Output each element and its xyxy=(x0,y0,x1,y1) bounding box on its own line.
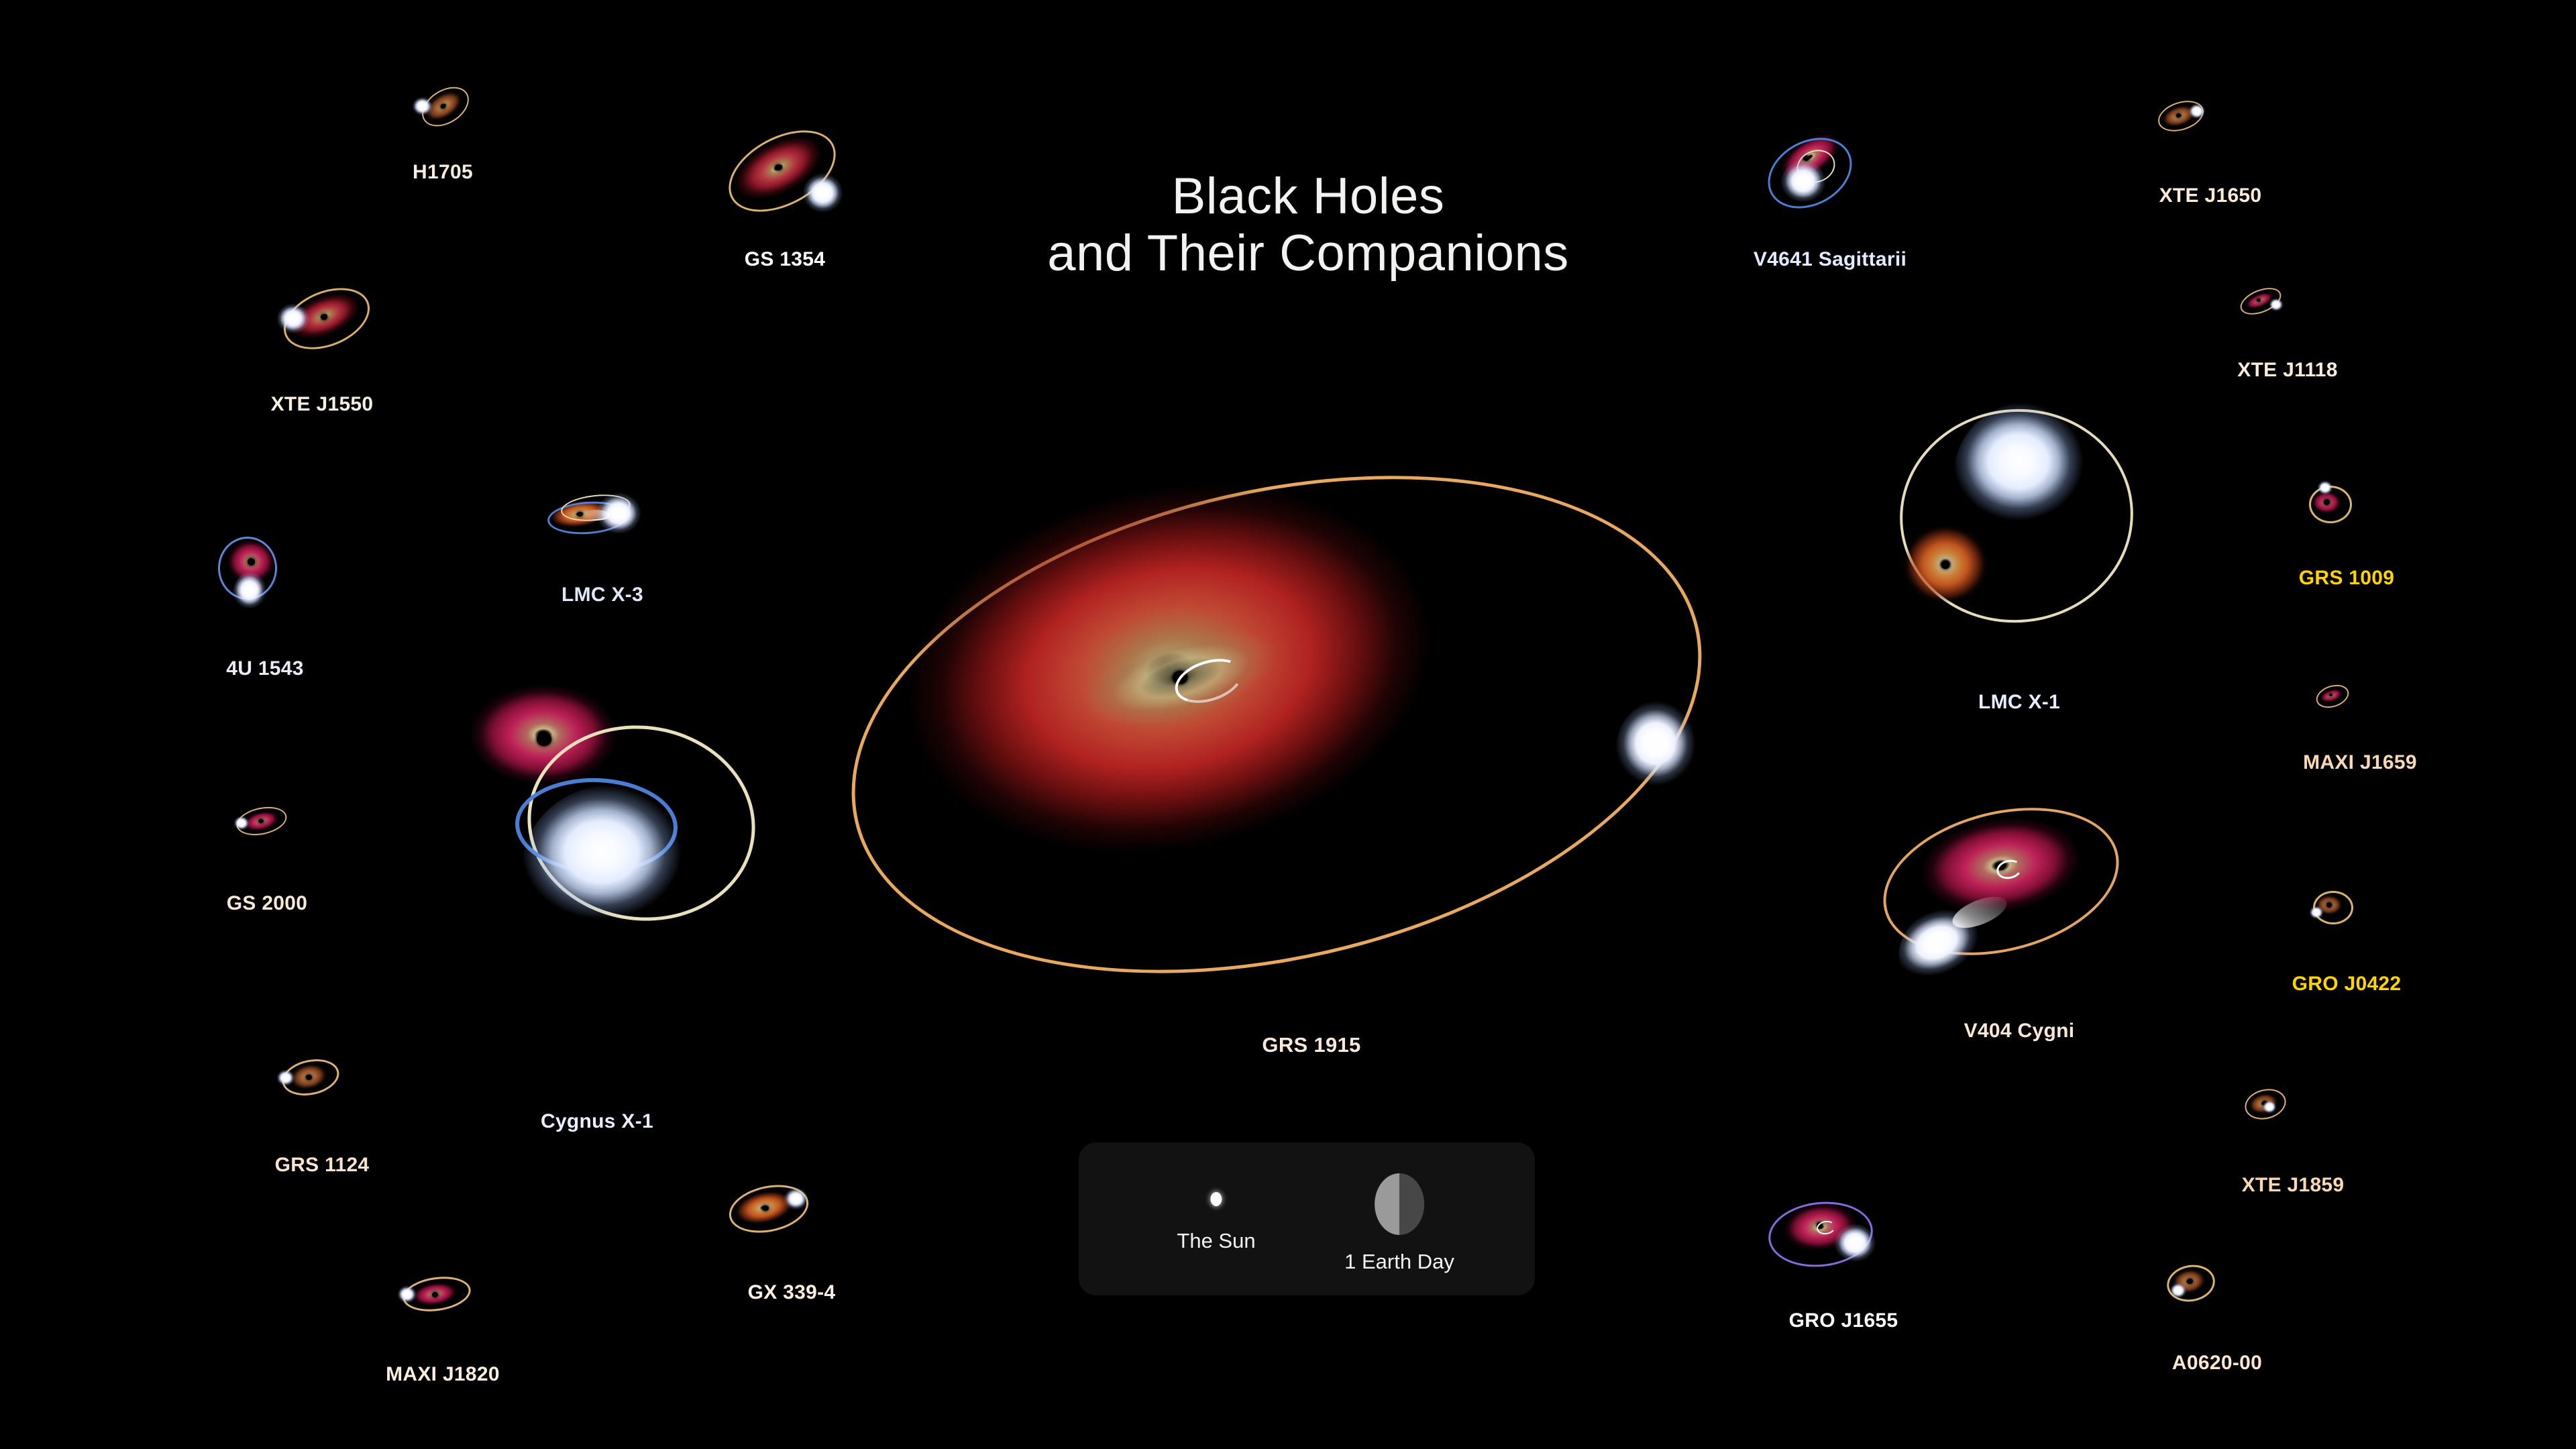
system-h1705[interactable]: H1705 xyxy=(402,80,523,208)
maxi-j1820-art xyxy=(376,1268,503,1335)
system-lmc-x1[interactable]: LMC X-1 xyxy=(1878,396,2200,738)
system-xte-j1118[interactable]: XTE J1118 xyxy=(2214,282,2381,409)
companion-star xyxy=(233,816,251,833)
system-gx339-4[interactable]: GX 339-4 xyxy=(718,1181,912,1315)
orbit-ring xyxy=(2313,681,2351,712)
gs2000-art xyxy=(215,798,315,852)
system-label: MAXI J1820 xyxy=(386,1363,500,1386)
system-label: GS 1354 xyxy=(745,248,826,271)
companion-star xyxy=(1615,701,1703,802)
system-grs1124[interactable]: GRS 1124 xyxy=(262,1053,429,1187)
system-xte-j1859[interactable]: XTE J1859 xyxy=(2220,1087,2388,1214)
system-xte-j1650[interactable]: XTE J1650 xyxy=(2140,94,2308,221)
h1705-art xyxy=(402,80,483,141)
companion-star xyxy=(802,173,847,220)
companion-star xyxy=(276,1069,297,1089)
companion-star xyxy=(2269,298,2285,314)
companion-star xyxy=(2262,1100,2278,1116)
system-label: GS 2000 xyxy=(227,892,308,915)
xte-j1550-art xyxy=(255,282,389,369)
system-gs2000[interactable]: GS 2000 xyxy=(215,798,369,926)
companion-star xyxy=(397,1285,419,1307)
system-label: XTE J1118 xyxy=(2237,359,2338,382)
4u1543-art xyxy=(208,530,322,657)
black-hole xyxy=(537,733,551,746)
system-4u1543[interactable]: 4U 1543 xyxy=(208,530,376,698)
companion-star xyxy=(522,785,703,953)
system-label: GRO J0422 xyxy=(2292,973,2402,996)
v4641-art xyxy=(1744,134,1898,248)
system-lmc-x3[interactable]: LMC X-3 xyxy=(537,483,724,624)
system-grs1915[interactable]: GRS 1915 xyxy=(832,470,1784,1060)
system-label: V404 Cygni xyxy=(1964,1020,2075,1042)
legend-item-sun: The Sun xyxy=(1177,1192,1255,1253)
xte-j1859-art xyxy=(2220,1087,2321,1140)
companion-star xyxy=(1953,402,2101,550)
companion-star xyxy=(2317,480,2334,498)
system-label: LMC X-1 xyxy=(1978,691,2060,714)
legend-label: 1 Earth Day xyxy=(1344,1250,1454,1274)
system-gro-j1655[interactable]: GRO J1655 xyxy=(1758,1194,1986,1348)
scale-legend-panel: The Sun 1 Earth Day xyxy=(1079,1142,1535,1295)
companion-star xyxy=(2188,103,2207,122)
system-label: GRO J1655 xyxy=(1789,1309,1898,1332)
system-label: GRS 1915 xyxy=(1262,1033,1360,1057)
maxi-j1659-art xyxy=(2281,678,2388,724)
xte-j1118-art xyxy=(2214,282,2321,335)
system-a0620-00[interactable]: A0620-00 xyxy=(2140,1261,2314,1389)
system-v404-cygni[interactable]: V404 Cygni xyxy=(1865,798,2167,1060)
companion-star xyxy=(1834,1224,1880,1269)
system-label: V4641 Sagittarii xyxy=(1754,248,1907,271)
system-maxi-j1659[interactable]: MAXI J1659 xyxy=(2281,678,2455,798)
system-label: A0620-00 xyxy=(2172,1352,2262,1375)
gs1354-art xyxy=(711,134,859,235)
system-label: XTE J1550 xyxy=(271,393,374,416)
companion-star xyxy=(2169,1283,2188,1301)
grs1915-art xyxy=(832,470,1771,1026)
sun-dot-icon xyxy=(1210,1192,1222,1206)
companion-star xyxy=(784,1187,810,1214)
lmc-x1-art xyxy=(1878,396,2160,678)
page-title: Black Holes and Their Companions xyxy=(1033,168,1583,282)
system-label: XTE J1650 xyxy=(2159,184,2262,207)
system-label: GRS 1124 xyxy=(275,1154,370,1177)
system-grs1009[interactable]: GRS 1009 xyxy=(2281,476,2435,610)
gx339-4-art xyxy=(718,1181,865,1254)
legend-item-earth-day: 1 Earth Day xyxy=(1344,1173,1454,1274)
grs1124-art xyxy=(262,1053,369,1114)
xte-j1650-art xyxy=(2140,94,2247,154)
lmc-x3-art xyxy=(537,483,684,557)
system-maxi-j1820[interactable]: MAXI J1820 xyxy=(376,1268,557,1395)
system-label: XTE J1859 xyxy=(2242,1174,2345,1197)
system-gro-j0422[interactable]: GRO J0422 xyxy=(2281,885,2449,1020)
cygnus-x1-art xyxy=(463,678,798,1093)
system-label: Cygnus X-1 xyxy=(541,1110,653,1133)
grs1009-art xyxy=(2281,476,2381,537)
starfield-canvas: Black Holes and Their Companions H1705 G… xyxy=(0,0,2576,1449)
system-cygnus-x1[interactable]: Cygnus X-1 xyxy=(463,678,818,1161)
companion-star xyxy=(2309,906,2325,922)
companion-star xyxy=(412,97,435,119)
system-label: GRS 1009 xyxy=(2299,567,2394,590)
black-hole xyxy=(1941,561,1949,569)
earth-day-icon xyxy=(1375,1173,1424,1235)
accretion-stream xyxy=(581,510,610,521)
a0620-art xyxy=(2140,1261,2247,1322)
v404-art xyxy=(1865,798,2147,1020)
companion-star xyxy=(276,303,313,339)
gro-j1655-art xyxy=(1758,1194,1925,1295)
gro-j0422-art xyxy=(2281,885,2381,946)
system-label: LMC X-3 xyxy=(561,584,643,606)
system-label: MAXI J1659 xyxy=(2303,751,2417,774)
legend-label: The Sun xyxy=(1177,1229,1255,1253)
system-v4641-sgr[interactable]: V4641 Sagittarii xyxy=(1744,134,1966,302)
companion-star xyxy=(1780,160,1830,211)
system-label: GX 339-4 xyxy=(748,1281,836,1304)
system-gs1354[interactable]: GS 1354 xyxy=(711,134,899,309)
system-label: H1705 xyxy=(413,161,473,184)
system-label: 4U 1543 xyxy=(226,657,304,680)
system-xte-j1550[interactable]: XTE J1550 xyxy=(255,282,436,436)
